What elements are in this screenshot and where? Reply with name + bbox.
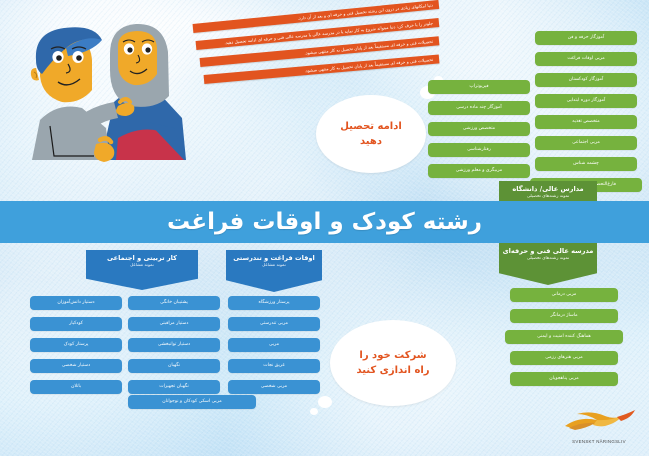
chip-edu-left-1: فیزیوتراپ — [428, 80, 530, 94]
chip-voc-3: هماهنگ کننده امنیت و ایمنی — [505, 330, 623, 344]
chip-pedagogic-far-2: کودکیار — [30, 317, 122, 331]
chip-edu-right-7: چشمه شناس — [535, 157, 637, 171]
bubble-bottom-line2: راه اندازی کنید — [356, 363, 429, 378]
bubble-top-line2: دهید — [340, 134, 402, 149]
chip-pedagogic-mid-1: پشتیبان خانگی — [128, 296, 220, 310]
eagle-logo-icon — [557, 408, 641, 434]
header-vocational-school-subtitle: نمونه رشته‌های تحصیلی — [499, 256, 597, 261]
header-pedagogic-social-subtitle: نمونه مشاغل — [86, 263, 198, 268]
chip-pedagogic-far-1: دستیار دانش‌آموزان — [30, 296, 122, 310]
chip-pedagogic-far-4: دستیار شخصی — [30, 359, 122, 373]
bubble-tail-bottom-large — [318, 396, 332, 408]
chip-voc-1: مربی درمانی — [510, 288, 618, 302]
header-higher-school-subtitle: نمونه رشته‌های تحصیلی — [499, 194, 597, 199]
poster-title-band: رشته کودک و اوقات فراغت — [0, 201, 649, 243]
header-vocational-school-title: مدرسه عالی فنی و حرفه‌ای — [499, 247, 597, 255]
chip-edu-right-4: آموزگار دوره ابتدایی — [535, 94, 637, 108]
poster-canvas: دنیا امکانهای زیادی در درون این رشته تحص… — [0, 0, 649, 456]
chip-voc-5: مربی پناهجویان — [510, 372, 618, 386]
chip-leisure-3: مربی — [228, 338, 320, 352]
bubble-top-line1: ادامه تحصیل — [340, 119, 402, 134]
header-higher-school-title: مدارس عالی/ دانشگاه — [499, 185, 597, 193]
chip-pedagogic-mid-3: دستیار توانبخشی — [128, 338, 220, 352]
chip-edu-left-4: رفتارشناسی — [428, 143, 530, 157]
chip-pedagogic-far-5: باتلان — [30, 380, 122, 394]
chip-pedagogic-mid-4: نگهبان — [128, 359, 220, 373]
bubble-continue-studies: ادامه تحصیل دهید — [316, 95, 426, 173]
chip-edu-right-2: مربی اوقات فراغت — [535, 52, 637, 66]
bubble-start-company: شرکت خود را راه اندازی کنید — [330, 320, 456, 406]
chip-edu-right-6: مربی اجتماعی — [535, 136, 637, 150]
bubble-tail-bottom-small — [310, 408, 318, 415]
organisation-logo-text: SVENSKT NÄRINGSLIV — [557, 439, 641, 444]
chip-pedagogic-mid-2: دستیار مراقبتی — [128, 317, 220, 331]
chip-pedagogic-far-3: پرستار کودک — [30, 338, 122, 352]
chip-edu-left-5: مربیگری و معلم ورزشی — [428, 164, 530, 178]
chip-leisure-5: مربی شخصی — [228, 380, 320, 394]
organisation-logo: SVENSKT NÄRINGSLIV — [557, 408, 641, 446]
chip-edu-left-3: متخصص ورزشی — [428, 122, 530, 136]
bubble-bottom-line1: شرکت خود را — [356, 348, 429, 363]
chip-footer-ski-instructor: مربی اسکی کودکان و نوجوانان — [128, 395, 256, 409]
chip-edu-left-2: آموزگار چند ماده درسی — [428, 101, 530, 115]
chip-leisure-4: غریق نجات — [228, 359, 320, 373]
chip-edu-right-5: متخصص تغذیه — [535, 115, 637, 129]
chip-voc-4: مربی هنرهای رزمی — [510, 351, 618, 365]
chip-pedagogic-mid-5: نگهبان تجهیزات — [128, 380, 220, 394]
header-leisure-health-title: اوقات فراغت و تندرستی — [226, 254, 322, 262]
chip-leisure-1: پرستار ورزشگاه — [228, 296, 320, 310]
header-pedagogic-social-title: کار تربیتی و اجتماعی — [86, 254, 198, 262]
chip-voc-2: ماساژ درمانگر — [510, 309, 618, 323]
header-leisure-health-subtitle: نمونه مشاغل — [226, 263, 322, 268]
chip-edu-right-1: آموزگار حرفه و فن — [535, 31, 637, 45]
page-title: رشته کودک و اوقات فراغت — [167, 209, 482, 235]
chip-leisure-2: مربی تندرستی — [228, 317, 320, 331]
chip-edu-right-3: آموزگار کودکستان — [535, 73, 637, 87]
